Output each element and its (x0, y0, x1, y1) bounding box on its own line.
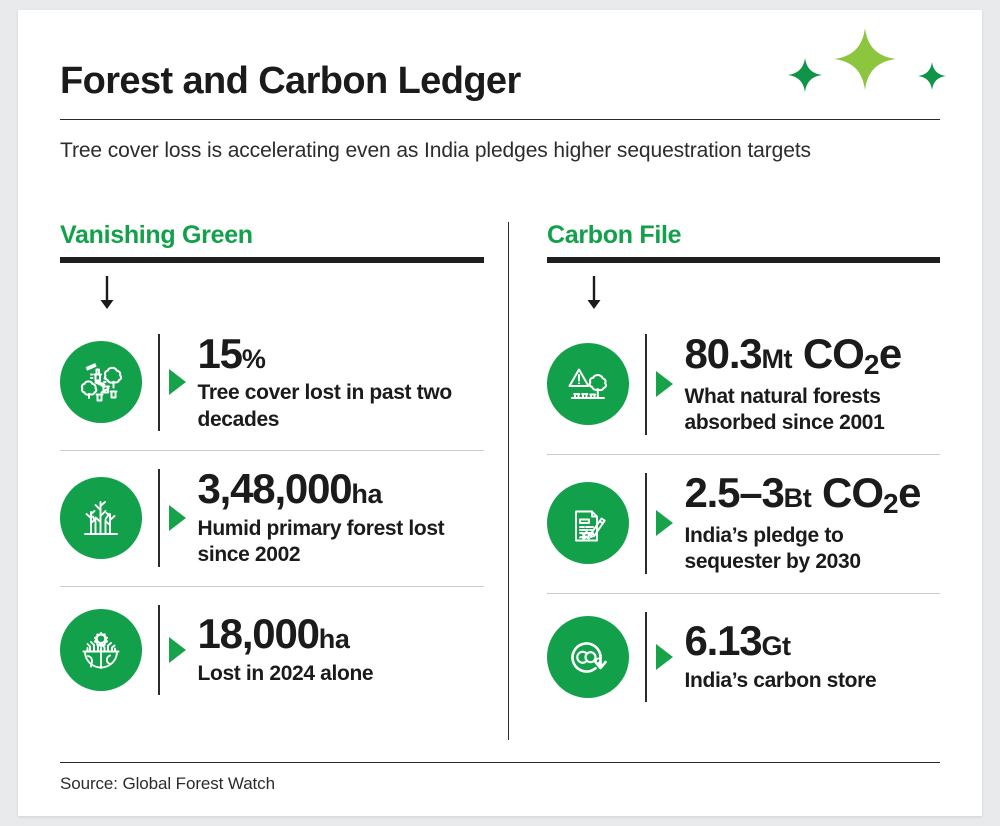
stat-text: 80.3Mt CO2e What natural forests absorbe… (685, 332, 941, 437)
arrow-marker-icon (169, 505, 186, 531)
stat-description: Tree cover lost in past two decades (198, 380, 485, 433)
infographic-card: Forest and Carbon Ledger Tree cover loss… (18, 10, 982, 816)
stat-row: 3,48,000ha Humid primary forest lost sin… (60, 450, 484, 586)
stat-number: 15 (198, 330, 242, 377)
warning-tree-icon (547, 343, 629, 425)
stat-text: 6.13Gt India’s carbon store (685, 619, 941, 694)
stat-big-unit-tail: e (898, 469, 920, 516)
stat-unit: Bt (784, 483, 812, 513)
stat-value: 3,48,000ha (198, 467, 485, 511)
stat-row: 15% Tree cover lost in past two decades (60, 316, 484, 451)
stat-description: Lost in 2024 alone (198, 661, 485, 687)
page-title: Forest and Carbon Ledger (60, 60, 940, 103)
stat-row: 80.3Mt CO2e What natural forests absorbe… (547, 316, 940, 454)
stat-value: 15% (198, 332, 485, 376)
stat-description: What natural forests absorbed since 2001 (685, 384, 941, 437)
down-arrow-icon (98, 276, 116, 310)
arrow-marker-icon (169, 369, 186, 395)
stat-big-unit: CO (803, 330, 864, 377)
stat-number: 3,48,000 (198, 465, 352, 512)
stat-value: 18,000ha (198, 612, 485, 656)
stat-row: 18,000ha Lost in 2024 alone (60, 586, 484, 714)
arrow-marker-icon (656, 510, 673, 536)
stat-text: 15% Tree cover lost in past two decades (198, 332, 485, 434)
stat-unit: % (242, 344, 266, 374)
stat-subscript: 2 (883, 488, 898, 519)
column-heading: Vanishing Green (60, 222, 484, 250)
stat-subscript: 2 (864, 349, 879, 380)
footer-divider (60, 762, 940, 763)
stat-text: 18,000ha Lost in 2024 alone (198, 612, 485, 687)
stat-number: 80.3 (685, 330, 762, 377)
stat-unit: Gt (761, 631, 790, 661)
stat-list: 80.3Mt CO2e What natural forests absorbe… (547, 316, 940, 721)
stat-big-unit: CO (822, 469, 883, 516)
stat-text: 3,48,000ha Humid primary forest lost sin… (198, 467, 485, 569)
stat-separator (158, 334, 160, 432)
stat-description: India’s pledge to sequester by 2030 (685, 523, 941, 576)
column-heading: Carbon File (547, 222, 940, 250)
title-divider (60, 119, 940, 120)
stat-value: 80.3Mt CO2e (685, 332, 941, 379)
stat-description: India’s carbon store (685, 668, 941, 694)
column-heading-rule (60, 257, 484, 263)
stat-unit: ha (351, 479, 382, 509)
stat-row: 2.5–3Bt CO2e India’s pledge to sequester… (547, 454, 940, 593)
stat-separator (158, 469, 160, 567)
stat-number: 6.13 (685, 617, 762, 664)
arrow-marker-icon (169, 637, 186, 663)
page-subtitle: Tree cover loss is accelerating even as … (60, 136, 860, 166)
arrow-marker-icon (656, 644, 673, 670)
stat-separator (158, 605, 160, 695)
stat-separator (645, 473, 647, 574)
stat-big-unit-tail: e (879, 330, 901, 377)
deforestation-stumps-icon (60, 341, 142, 423)
stat-unit: Mt (761, 344, 792, 374)
column-heading-rule (547, 257, 940, 263)
stat-unit: ha (319, 624, 350, 654)
column-vanishing-green: Vanishing Green (60, 222, 508, 754)
stat-list: 15% Tree cover lost in past two decades (60, 316, 484, 714)
stat-separator (645, 612, 647, 702)
stat-description: Humid primary forest lost since 2002 (198, 516, 485, 569)
stat-row: 6.13Gt India’s carbon store (547, 593, 940, 721)
bare-trees-icon (60, 477, 142, 559)
stat-text: 2.5–3Bt CO2e India’s pledge to sequester… (685, 471, 941, 576)
stat-separator (645, 334, 647, 435)
header: Forest and Carbon Ledger Tree cover loss… (60, 60, 940, 165)
co2-cycle-icon (547, 616, 629, 698)
source-text: Source: Global Forest Watch (60, 774, 940, 794)
stat-number: 2.5–3 (685, 469, 784, 516)
stat-value: 6.13Gt (685, 619, 941, 663)
stat-number: 18,000 (198, 610, 319, 657)
footer: Source: Global Forest Watch (60, 762, 940, 794)
arrow-marker-icon (656, 371, 673, 397)
stat-value: 2.5–3Bt CO2e (685, 471, 941, 518)
columns-container: Vanishing Green (60, 222, 940, 754)
down-arrow-icon (585, 276, 603, 310)
pledge-document-icon (547, 482, 629, 564)
globe-crops-icon (60, 609, 142, 691)
infographic-page: Forest and Carbon Ledger Tree cover loss… (0, 0, 1000, 826)
column-carbon-file: Carbon File (509, 222, 940, 754)
